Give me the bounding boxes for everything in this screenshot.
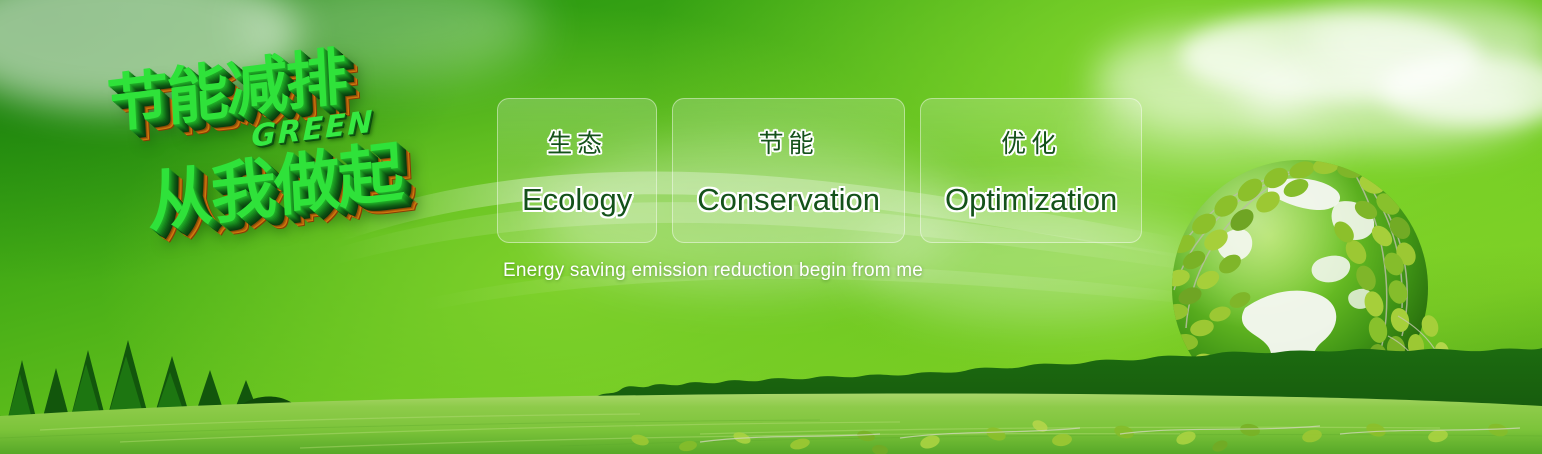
- card-en-label: Optimization: [945, 182, 1117, 218]
- tagline-text: Energy saving emission reduction begin f…: [503, 260, 923, 282]
- logo-line-2: 从我做起: [144, 118, 403, 245]
- card-en-label: Ecology: [522, 182, 632, 218]
- card-cn-label: 生态: [547, 124, 607, 160]
- card-en-label: Conservation: [697, 182, 880, 218]
- card-cn-label: 优化: [1001, 124, 1061, 160]
- eco-banner: 节能减排 GREEN 从我做起 生态 Ecology 节能 Conservati…: [0, 0, 1542, 454]
- feature-card-ecology[interactable]: 生态 Ecology: [497, 98, 657, 243]
- landscape-scenery: [0, 334, 1542, 454]
- logo-graphic: 节能减排 GREEN 从我做起: [96, 34, 496, 269]
- card-cn-label: 节能: [759, 124, 819, 160]
- feature-card-list: 生态 Ecology 节能 Conservation 优化 Optimizati…: [497, 98, 1142, 243]
- feature-card-optimization[interactable]: 优化 Optimization: [920, 98, 1142, 243]
- feature-card-conservation[interactable]: 节能 Conservation: [672, 98, 905, 243]
